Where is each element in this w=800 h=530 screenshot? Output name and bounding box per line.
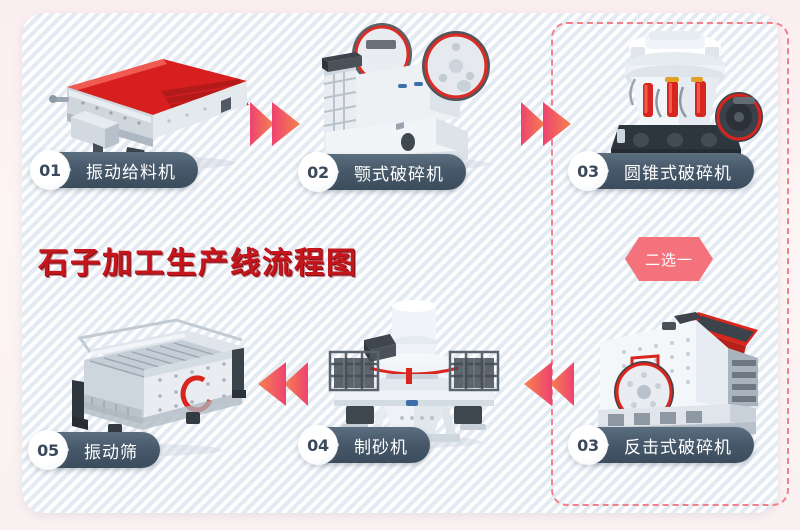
step-card-03-cone[interactable]: 03 › 圆锥式破碎机 (572, 18, 784, 193)
step-label-02[interactable]: 02 › 颚式破碎机 (298, 152, 466, 192)
step-card-03-impact[interactable]: 03 › 反击式破碎机 (572, 300, 784, 480)
step-label-05[interactable]: 05 › 振动筛 (28, 430, 160, 470)
step-card-04[interactable]: 04 › 制砂机 (298, 300, 528, 480)
choose-one-badge: 二选一 (625, 237, 713, 281)
step-label-03-cone[interactable]: 03 › 圆锥式破碎机 (568, 151, 754, 191)
arrow-sandmaker-to-screen (256, 356, 312, 417)
step-number-badge: 04 (298, 425, 338, 465)
step-name-pill[interactable]: › 反击式破碎机 (594, 427, 754, 463)
step-number-badge: 01 (30, 150, 70, 190)
step-name-pill[interactable]: › 振动筛 (54, 432, 160, 468)
step-label-01[interactable]: 01 › 振动给料机 (30, 150, 198, 190)
step-card-05[interactable]: 05 › 振动筛 (28, 308, 258, 478)
step-name-label: 振动筛 (84, 438, 138, 463)
step-label-04[interactable]: 04 › 制砂机 (298, 425, 430, 465)
cone-crusher-icon (572, 18, 784, 173)
step-name-label: 圆锥式破碎机 (624, 159, 732, 184)
step-number-badge: 05 (28, 430, 68, 470)
flowchart-page: 石子加工生产线流程图 二选一 (0, 0, 800, 530)
step-number-badge: 02 (298, 152, 338, 192)
step-name-pill[interactable]: › 颚式破碎机 (324, 154, 466, 190)
step-name-pill[interactable]: › 振动给料机 (56, 152, 198, 188)
step-name-label: 振动给料机 (86, 158, 176, 183)
step-name-label: 反击式破碎机 (624, 433, 732, 458)
jaw-crusher-icon (300, 12, 530, 174)
arrow-jaw-to-cone (519, 96, 577, 157)
step-card-01[interactable]: 01 › 振动给料机 (30, 25, 260, 190)
step-number-badge: 03 (568, 425, 608, 465)
step-name-label: 制砂机 (354, 433, 408, 458)
arrow-impact-to-sandmaker (522, 356, 578, 417)
page-title: 石子加工生产线流程图 (38, 238, 358, 282)
step-number-badge: 03 (568, 151, 608, 191)
arrow-feeder-to-jaw (248, 96, 306, 157)
step-name-pill[interactable]: › 圆锥式破碎机 (594, 153, 754, 189)
step-card-02[interactable]: 02 › 颚式破碎机 (300, 12, 530, 192)
step-name-label: 颚式破碎机 (354, 160, 444, 185)
step-label-03-impact[interactable]: 03 › 反击式破碎机 (568, 425, 754, 465)
step-name-pill[interactable]: › 制砂机 (324, 427, 430, 463)
